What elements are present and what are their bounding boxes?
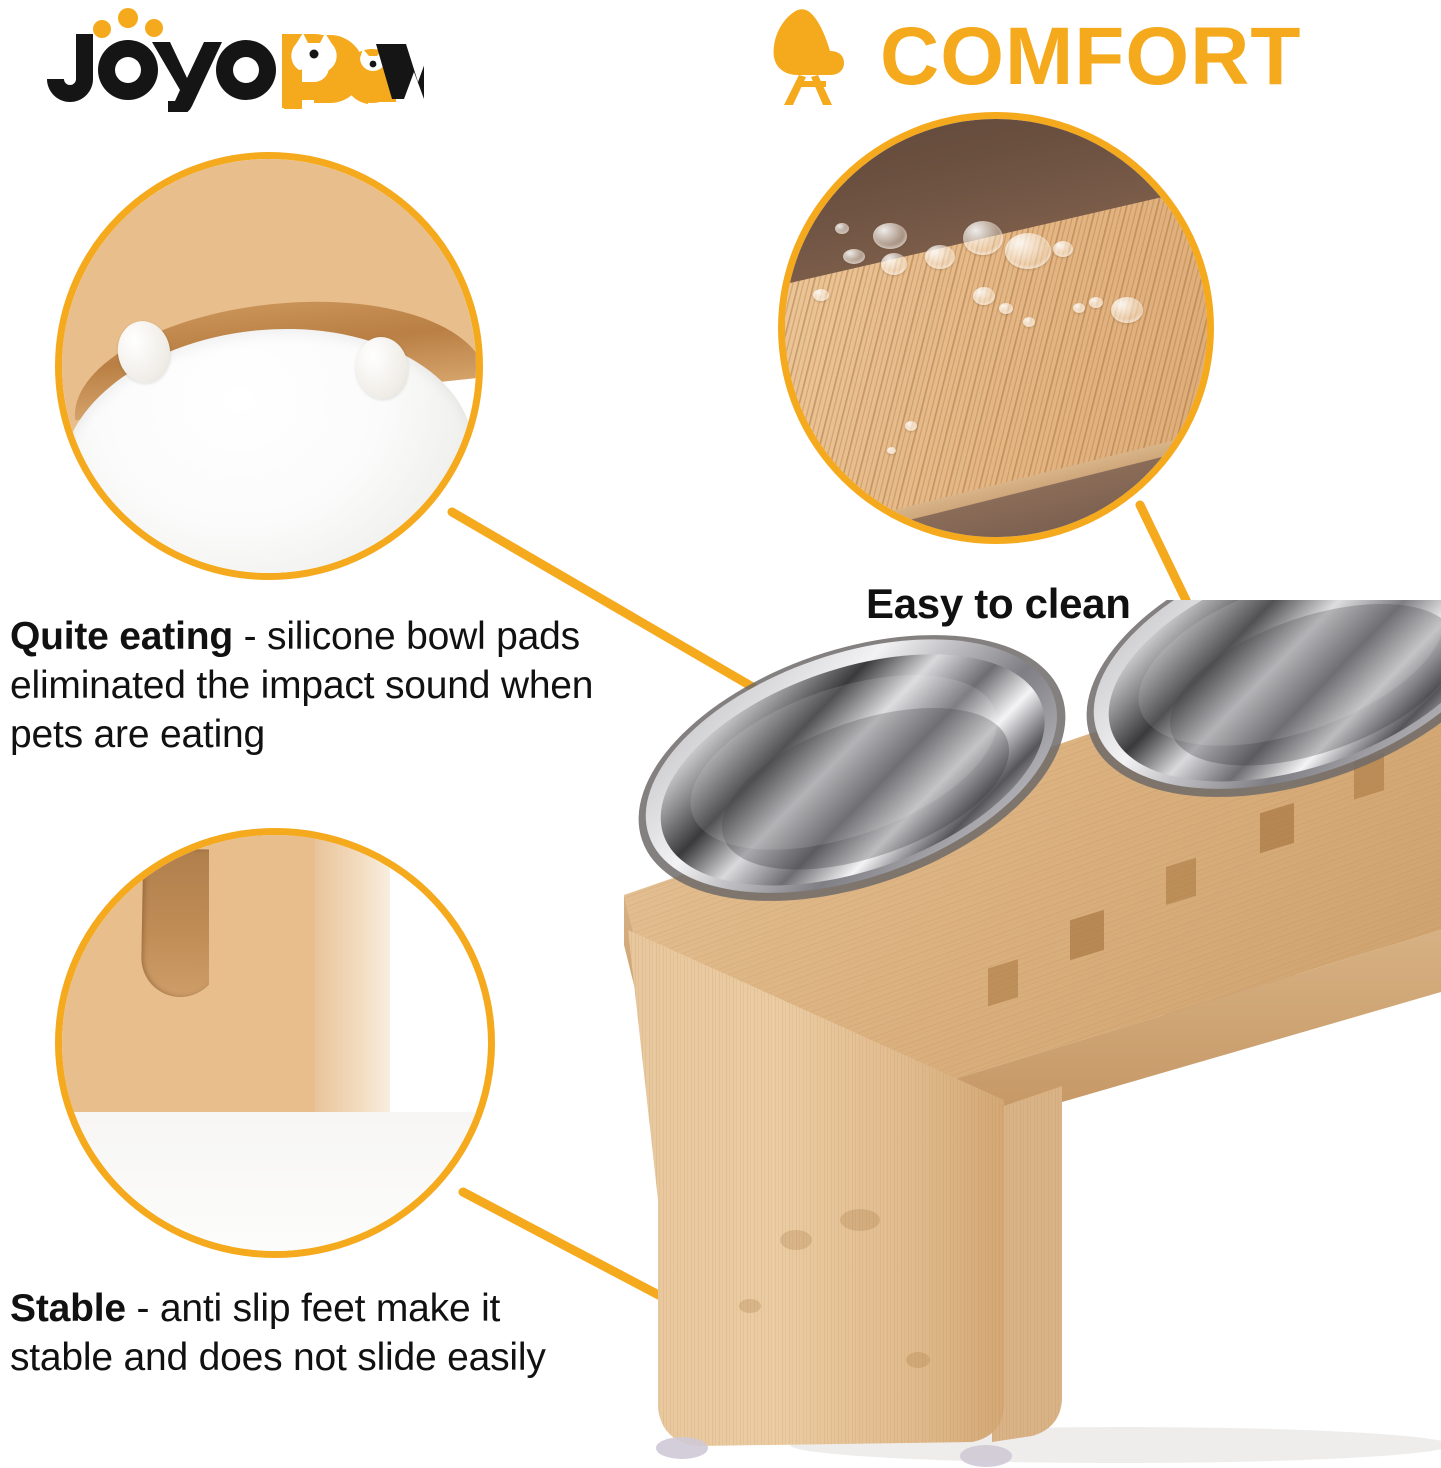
water-droplet [843, 249, 865, 264]
feature-text-stable: Stable - anti slip feet make it stable a… [10, 1284, 610, 1382]
header: COMFORT [0, 0, 1441, 118]
bamboo-leg [209, 828, 324, 1129]
feature-separator: - [126, 1287, 160, 1330]
comfort-banner: COMFORT [768, 2, 1301, 112]
water-drops-photo [778, 112, 1214, 544]
product-photo [600, 600, 1441, 1468]
water-droplet [1089, 297, 1103, 308]
silicone-pads-photo [55, 152, 482, 579]
feature-heading-quiet-eating: Quite eating [10, 615, 233, 658]
water-droplet [835, 223, 849, 234]
water-droplet [905, 421, 917, 431]
chair-icon [768, 7, 854, 107]
water-droplet [999, 303, 1013, 314]
anti-slip-foot-photo [55, 828, 495, 1258]
callout-image-easy-to-clean [778, 112, 1214, 544]
feature-text-quiet-eating: Quite eating - silicone bowl pads elimin… [10, 612, 630, 759]
feature-heading-easy-to-clean: Easy to clean [866, 580, 1131, 628]
water-droplet [1053, 241, 1073, 257]
anti-slip-foot [960, 1445, 1012, 1467]
water-droplet [973, 287, 995, 305]
bamboo-leg-side [315, 828, 390, 1112]
water-droplet [881, 253, 907, 275]
callout-image-stable [55, 828, 495, 1258]
water-droplet [1023, 317, 1035, 327]
water-droplet [813, 289, 829, 301]
water-droplet [925, 245, 955, 269]
water-droplet [1111, 297, 1143, 323]
brand-logo [24, 4, 424, 112]
water-droplet [873, 223, 907, 249]
callout-image-quiet-eating [55, 152, 483, 580]
floor-surface [55, 1112, 495, 1258]
feature-separator: - [233, 615, 267, 658]
anti-slip-foot [656, 1437, 708, 1459]
water-droplet [887, 447, 896, 454]
water-droplet [1005, 233, 1051, 269]
water-droplet [1073, 303, 1085, 313]
water-droplet [963, 221, 1003, 255]
feature-heading-stable: Stable [10, 1287, 126, 1330]
comfort-title: COMFORT [880, 16, 1301, 98]
